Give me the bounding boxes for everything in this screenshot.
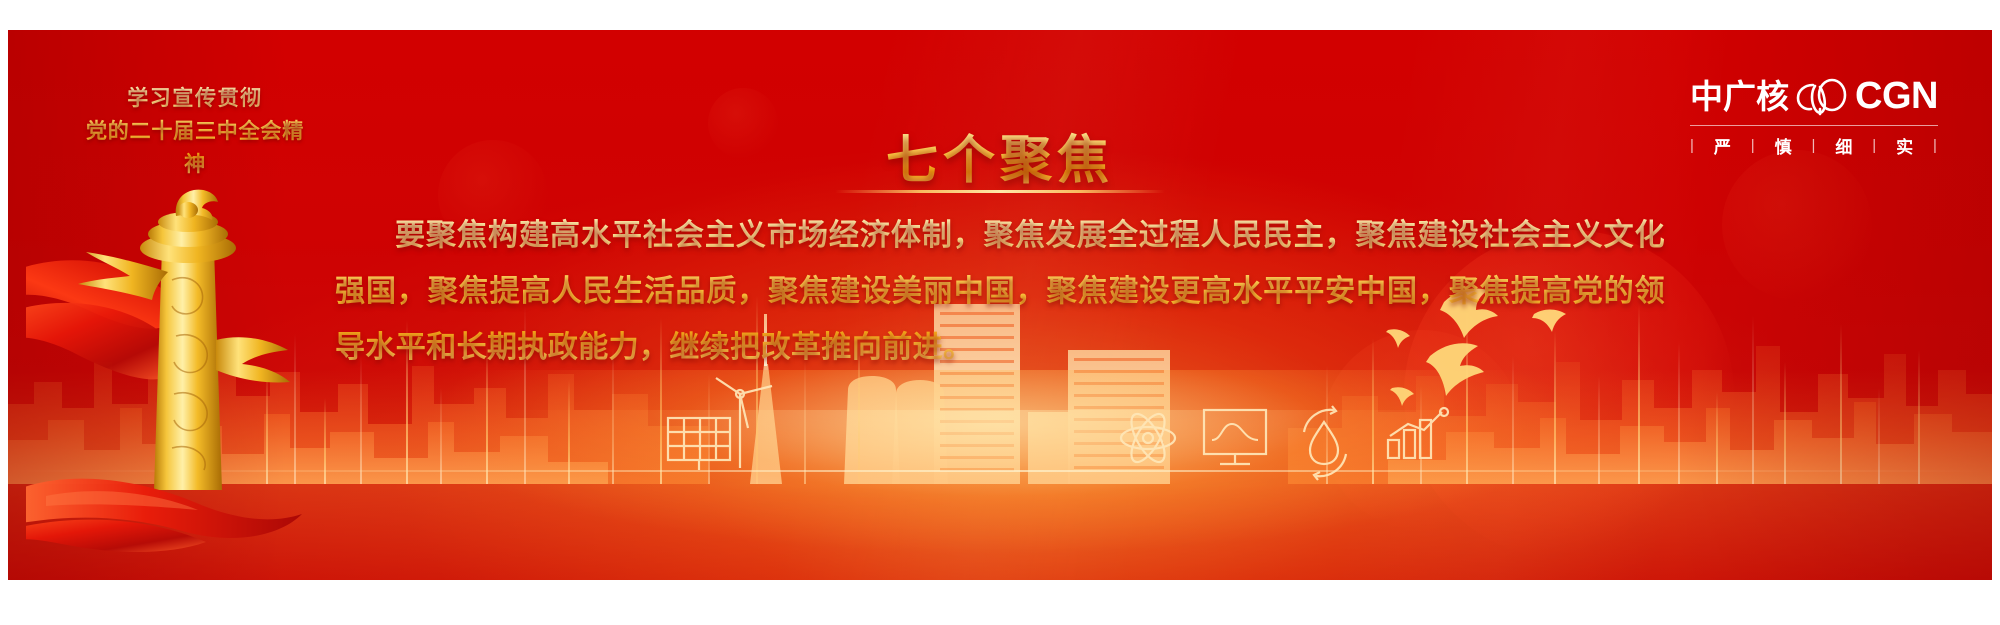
huabiao-column: [26, 160, 356, 580]
logo-divider: [1690, 125, 1938, 126]
cgn-swirl-icon: [1791, 76, 1853, 116]
logo-chinese-name: 中广核: [1690, 80, 1789, 113]
road-perspective-glow: [300, 410, 1700, 580]
tagline-separator: |: [1812, 137, 1817, 154]
tagline-char-2: 慎: [1775, 133, 1793, 158]
tagline-separator: |: [1933, 137, 1938, 154]
ground-glow: [8, 370, 1992, 580]
cgn-logo: 中广核 CGN | 严 | 慎 | 细 |: [1690, 76, 1938, 158]
logo-english-name: CGN: [1855, 77, 1938, 115]
logo-wordmark: 中广核 CGN: [1690, 76, 1938, 116]
tagline-separator: |: [1690, 137, 1695, 154]
slogan-line-1: 学习宣传贯彻: [80, 82, 310, 115]
body-copy: 要聚焦构建高水平社会主义市场经济体制，聚焦发展全过程人民民主，聚焦建设社会主义文…: [335, 208, 1665, 376]
horizon-line: [8, 470, 1992, 472]
banner-stage: 学习宣传贯彻 党的二十届三中全会精神 七个聚焦 要聚焦构建高水平社会主义市场经济…: [8, 30, 1992, 580]
tagline-char-1: 严: [1714, 133, 1732, 158]
propaganda-banner: 学习宣传贯彻 党的二十届三中全会精神 七个聚焦 要聚焦构建高水平社会主义市场经济…: [0, 0, 2000, 625]
tagline-char-3: 细: [1835, 133, 1853, 158]
tagline-separator: |: [1872, 137, 1877, 154]
logo-tagline: | 严 | 慎 | 细 | 实 |: [1690, 133, 1938, 158]
tagline-char-4: 实: [1896, 133, 1914, 158]
title-underline: [835, 190, 1165, 193]
body-paragraph: 要聚焦构建高水平社会主义市场经济体制，聚焦发展全过程人民民主，聚焦建设社会主义文…: [335, 208, 1665, 376]
tagline-separator: |: [1751, 137, 1756, 154]
